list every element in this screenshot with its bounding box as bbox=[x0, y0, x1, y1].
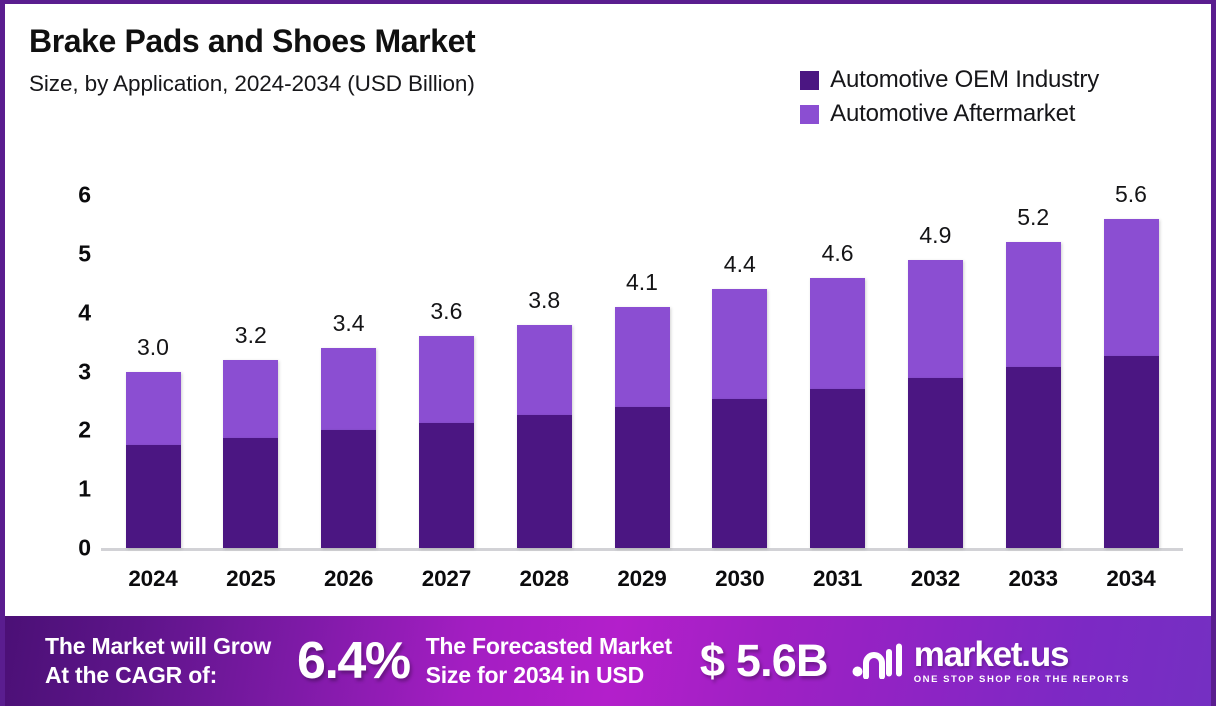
brand-logo[interactable]: market.us ONE STOP SHOP FOR THE REPORTS bbox=[852, 637, 1130, 685]
bar-segment-oem-2028[interactable] bbox=[517, 415, 572, 548]
bar-segment-aftermarket-2026[interactable] bbox=[321, 348, 376, 430]
bar-group-2028[interactable]: 3.82028 bbox=[517, 4, 572, 610]
market-size-caption-line1: The Forecasted Market bbox=[426, 632, 672, 661]
cagr-caption-line2: At the CAGR of: bbox=[45, 661, 271, 690]
cagr-caption-line1: The Market will Grow bbox=[45, 632, 271, 661]
bar-total-label-2034: 5.6 bbox=[1071, 181, 1191, 208]
market-us-logo-icon bbox=[852, 643, 904, 679]
bar-segment-aftermarket-2032[interactable] bbox=[908, 260, 963, 378]
bar-group-2024[interactable]: 3.02024 bbox=[126, 4, 181, 610]
bar-segment-oem-2031[interactable] bbox=[810, 389, 865, 548]
bar-segment-oem-2034[interactable] bbox=[1104, 356, 1159, 548]
bar-segment-oem-2033[interactable] bbox=[1006, 367, 1061, 548]
cagr-value: 6.4% bbox=[297, 631, 410, 691]
bar-segment-aftermarket-2030[interactable] bbox=[712, 289, 767, 398]
x-axis-tick-2034: 2034 bbox=[1061, 566, 1201, 592]
bar-segment-aftermarket-2033[interactable] bbox=[1006, 242, 1061, 367]
bar-group-2034[interactable]: 5.62034 bbox=[1104, 4, 1159, 610]
bar-group-2030[interactable]: 4.42030 bbox=[712, 4, 767, 610]
footer-bar: The Market will Grow At the CAGR of: 6.4… bbox=[5, 616, 1216, 706]
bar-segment-oem-2032[interactable] bbox=[908, 378, 963, 548]
brand-name: market.us bbox=[914, 637, 1130, 672]
infographic-root: Brake Pads and Shoes Market Size, by App… bbox=[0, 0, 1216, 706]
bar-segment-oem-2024[interactable] bbox=[126, 445, 181, 548]
brand-tagline: ONE STOP SHOP FOR THE REPORTS bbox=[914, 675, 1130, 685]
cagr-caption: The Market will Grow At the CAGR of: bbox=[45, 632, 271, 690]
bar-group-2029[interactable]: 4.12029 bbox=[615, 4, 670, 610]
bar-segment-aftermarket-2024[interactable] bbox=[126, 372, 181, 446]
bar-segment-oem-2026[interactable] bbox=[321, 430, 376, 548]
market-size-value: $ 5.6B bbox=[700, 635, 828, 687]
bar-group-2025[interactable]: 3.22025 bbox=[223, 4, 278, 610]
bar-segment-aftermarket-2031[interactable] bbox=[810, 278, 865, 389]
bar-segment-oem-2030[interactable] bbox=[712, 399, 767, 548]
bars-layer: 3.020243.220253.420263.620273.820284.120… bbox=[5, 4, 1216, 610]
bar-group-2032[interactable]: 4.92032 bbox=[908, 4, 963, 610]
bar-segment-aftermarket-2029[interactable] bbox=[615, 307, 670, 407]
bar-segment-aftermarket-2027[interactable] bbox=[419, 336, 474, 423]
bar-group-2033[interactable]: 5.22033 bbox=[1006, 4, 1061, 610]
market-size-caption: The Forecasted Market Size for 2034 in U… bbox=[426, 632, 672, 690]
bar-group-2026[interactable]: 3.42026 bbox=[321, 4, 376, 610]
bar-segment-aftermarket-2025[interactable] bbox=[223, 360, 278, 438]
bar-segment-oem-2027[interactable] bbox=[419, 423, 474, 548]
brand-text: market.us ONE STOP SHOP FOR THE REPORTS bbox=[914, 637, 1130, 685]
bar-total-label-2033: 5.2 bbox=[973, 204, 1093, 231]
chart-plot-area: 0123456 3.020243.220253.420263.620273.82… bbox=[5, 4, 1216, 610]
bar-segment-oem-2025[interactable] bbox=[223, 438, 278, 548]
bar-segment-oem-2029[interactable] bbox=[615, 407, 670, 548]
bar-group-2027[interactable]: 3.62027 bbox=[419, 4, 474, 610]
market-size-caption-line2: Size for 2034 in USD bbox=[426, 661, 672, 690]
bar-segment-aftermarket-2028[interactable] bbox=[517, 325, 572, 416]
bar-segment-aftermarket-2034[interactable] bbox=[1104, 219, 1159, 357]
bar-group-2031[interactable]: 4.62031 bbox=[810, 4, 865, 610]
